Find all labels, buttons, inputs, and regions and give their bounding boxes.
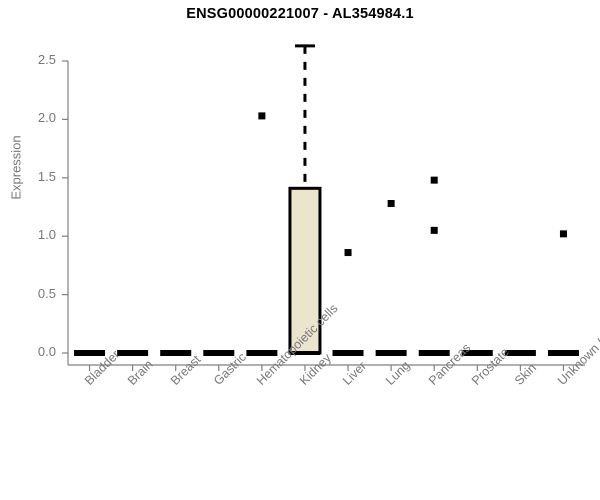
y-axis-tick-label: 2.0 (22, 110, 56, 125)
y-axis-tick-label: 0.0 (22, 344, 56, 359)
y-axis-tick-label: 2.5 (22, 52, 56, 67)
y-axis-tick-label: 1.5 (22, 169, 56, 184)
box-pancreas (419, 351, 449, 356)
box-rect-flat (75, 351, 105, 356)
chart-title: ENSG00000221007 - AL354984.1 (0, 6, 600, 22)
y-axis-label: Expression (9, 108, 24, 228)
outlier-point (560, 231, 566, 237)
box-rect-flat (161, 351, 191, 356)
outlier-point (259, 113, 265, 119)
outlier-point (388, 200, 394, 206)
box-bladder (75, 351, 105, 356)
box-rect-flat (376, 351, 406, 356)
plot-area (0, 0, 600, 500)
box-rect-flat (419, 351, 449, 356)
box-rect-flat (204, 351, 234, 356)
box-kidney (290, 46, 320, 353)
box-gastric (204, 351, 234, 356)
box-rect-flat (548, 351, 578, 356)
box-breast (161, 351, 191, 356)
box-unknown-other (548, 351, 578, 356)
outlier-point (345, 250, 351, 256)
box-rect-flat (333, 351, 363, 356)
outlier-point (431, 177, 437, 183)
box-rect-flat (118, 351, 148, 356)
y-axis-tick-label: 1.0 (22, 227, 56, 242)
box-hematopoietic-cells (247, 351, 277, 356)
box-brain (118, 351, 148, 356)
y-axis-tick-label: 0.5 (22, 286, 56, 301)
box-rect-flat (247, 351, 277, 356)
boxplot-chart: ENSG00000221007 - AL354984.1 Expression … (0, 0, 600, 500)
box-lung (376, 351, 406, 356)
outlier-point (431, 227, 437, 233)
box-liver (333, 351, 363, 356)
